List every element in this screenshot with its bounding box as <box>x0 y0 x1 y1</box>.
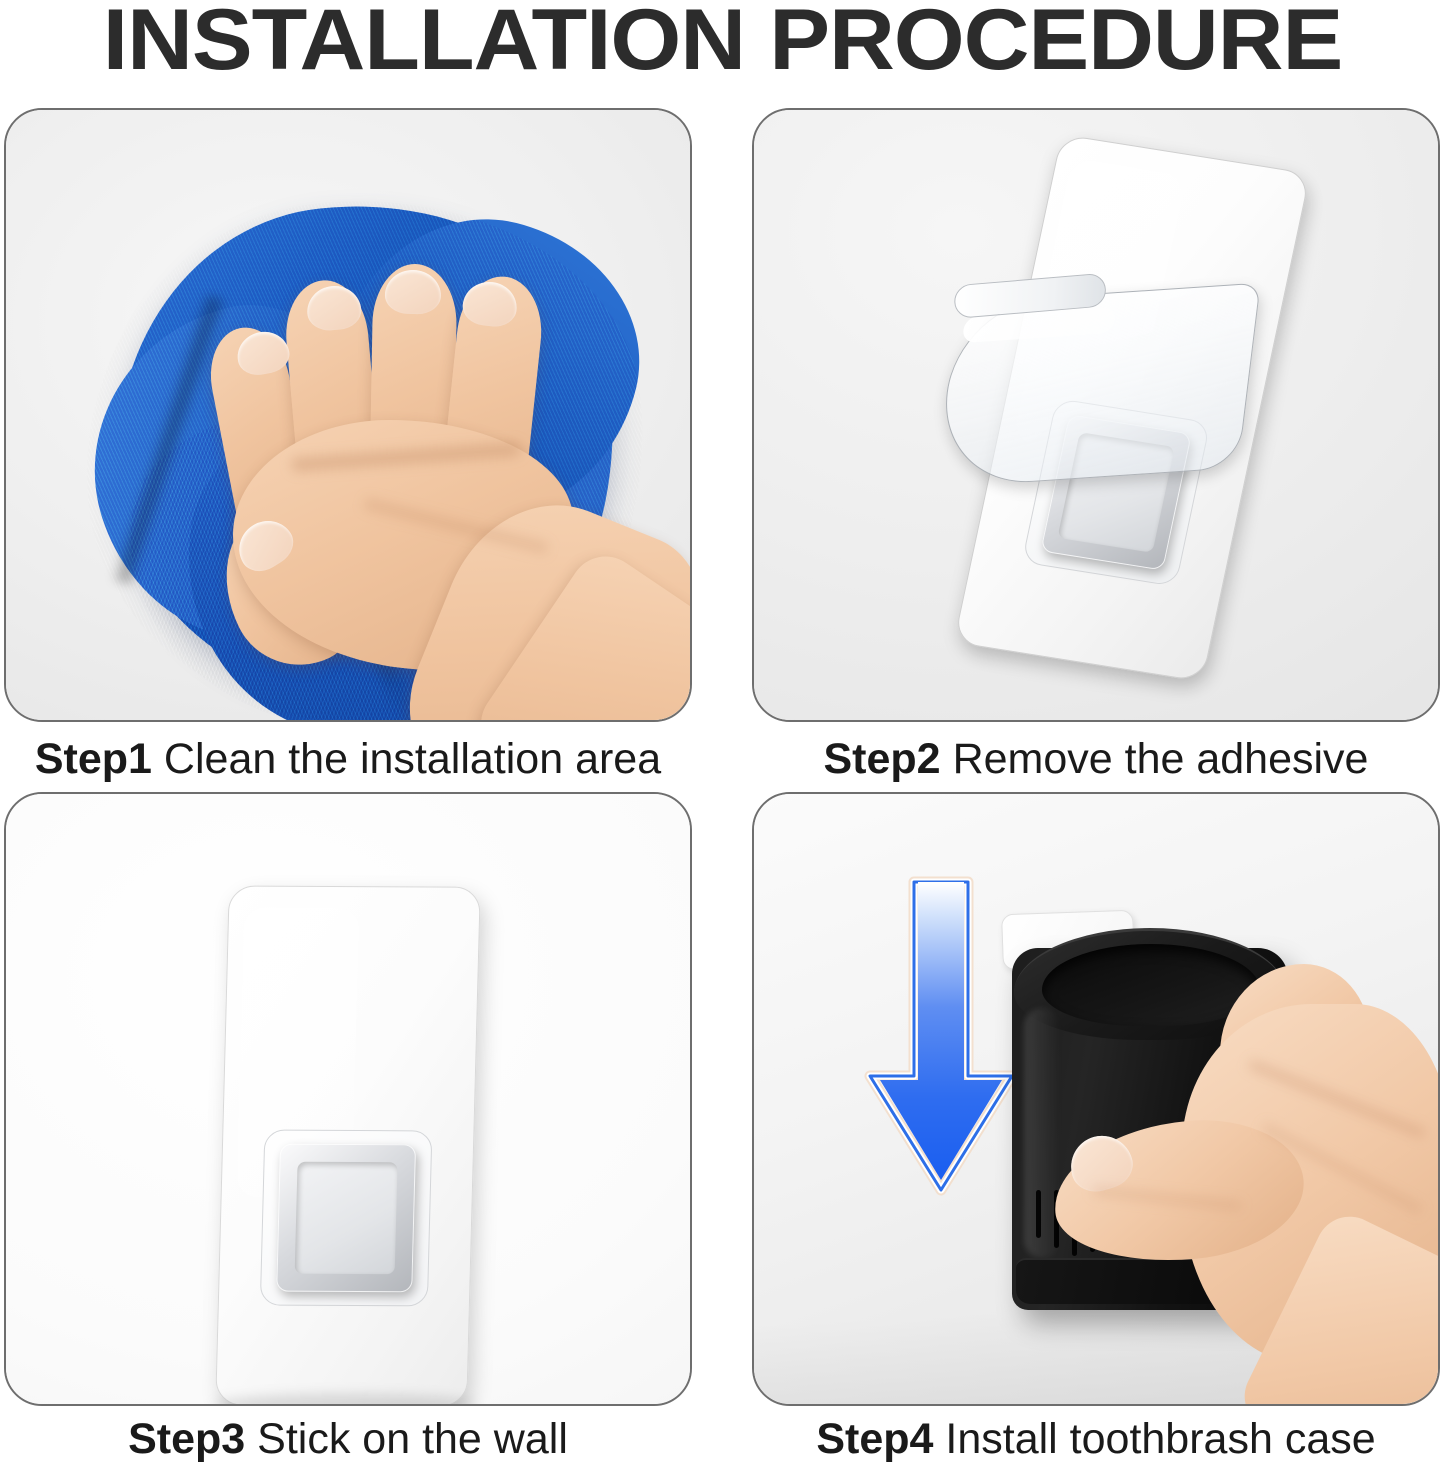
step3-caption: Step3 Stick on the wall <box>4 1410 692 1464</box>
step4-image-panel <box>752 792 1440 1406</box>
step2-image-panel <box>752 108 1440 722</box>
step1-description: Clean the installation area <box>164 735 661 783</box>
mounted-adhesive-sticker <box>215 885 481 1406</box>
hand-wiping <box>181 260 651 722</box>
down-arrow-icon <box>866 880 1016 1248</box>
step4-description: Install toothbrash case <box>945 1415 1375 1463</box>
drain-slot <box>1036 1190 1041 1238</box>
step2-caption: Step2 Remove the adhesive <box>752 730 1440 788</box>
step1-caption: Step1 Clean the installation area <box>4 730 692 788</box>
hand-holding-case <box>1122 944 1440 1406</box>
step3-label: Step3 <box>128 1415 245 1463</box>
step3-image-panel <box>4 792 692 1406</box>
step2-description: Remove the adhesive <box>953 735 1369 783</box>
step2-label: Step2 <box>824 735 941 783</box>
step4-label: Step4 <box>816 1415 933 1463</box>
step1-label: Step1 <box>35 735 152 783</box>
step1-image-panel <box>4 108 692 722</box>
installation-procedure-infographic: INSTALLATION PROCEDURE <box>0 0 1445 1464</box>
step4-caption: Step4 Install toothbrash case <box>752 1410 1440 1464</box>
mount-tab-inner-mounted <box>295 1162 398 1274</box>
step3-description: Stick on the wall <box>257 1415 568 1463</box>
page-title: INSTALLATION PROCEDURE <box>0 0 1445 86</box>
